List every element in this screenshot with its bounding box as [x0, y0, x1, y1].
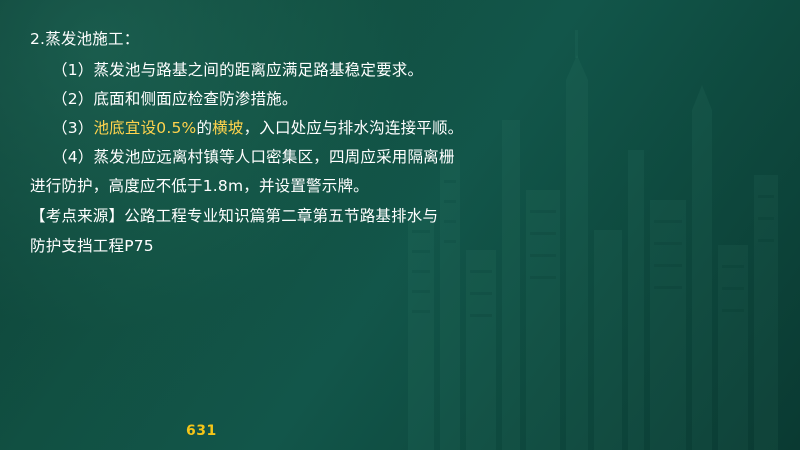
source-reference-line-2: 防护支挡工程P75 [30, 239, 154, 255]
slide-content: 2.蒸发池施工： （1）蒸发池与路基之间的距离应满足路基稳定要求。 （2）底面和… [0, 0, 800, 450]
bullet-item-1-prefix: （1） [52, 61, 93, 79]
bullet-item-4-continuation: 进行防护，高度应不低于1.8m，并设置警示牌。 [30, 179, 369, 195]
bullet-item-2: （2）底面和侧面应检查防渗措施。 [52, 92, 298, 108]
bullet-item-2-text: 底面和侧面应检查防渗措施。 [93, 90, 297, 108]
page-number: 631 [186, 424, 217, 438]
bullet-item-3-prefix: （3） [52, 119, 93, 137]
bullet-item-1-text: 蒸发池与路基之间的距离应满足路基稳定要求。 [93, 61, 423, 79]
bullet-item-3-after: ，入口处应与排水沟连接平顺。 [244, 119, 464, 137]
bullet-item-3-highlight-a: 池底宜设0.5% [93, 119, 196, 137]
bullet-item-4-text: 蒸发池应远离村镇等人口密集区，四周应采用隔离栅 [93, 148, 454, 166]
bullet-item-4: （4）蒸发池应远离村镇等人口密集区，四周应采用隔离栅 [52, 150, 455, 166]
bullet-item-4-prefix: （4） [52, 148, 93, 166]
bullet-item-1: （1）蒸发池与路基之间的距离应满足路基稳定要求。 [52, 63, 423, 79]
bullet-item-3: （3）池底宜设0.5%的横坡，入口处应与排水沟连接平顺。 [52, 121, 463, 137]
bullet-item-2-prefix: （2） [52, 90, 93, 108]
slide-title: 2.蒸发池施工： [30, 32, 139, 48]
bullet-item-3-highlight-b: 横坡 [212, 119, 243, 137]
bullet-item-3-middle: 的 [196, 119, 212, 137]
source-reference-line-1: 【考点来源】公路工程专业知识篇第二章第五节路基排水与 [30, 209, 438, 225]
slide: 2.蒸发池施工： （1）蒸发池与路基之间的距离应满足路基稳定要求。 （2）底面和… [0, 0, 800, 450]
